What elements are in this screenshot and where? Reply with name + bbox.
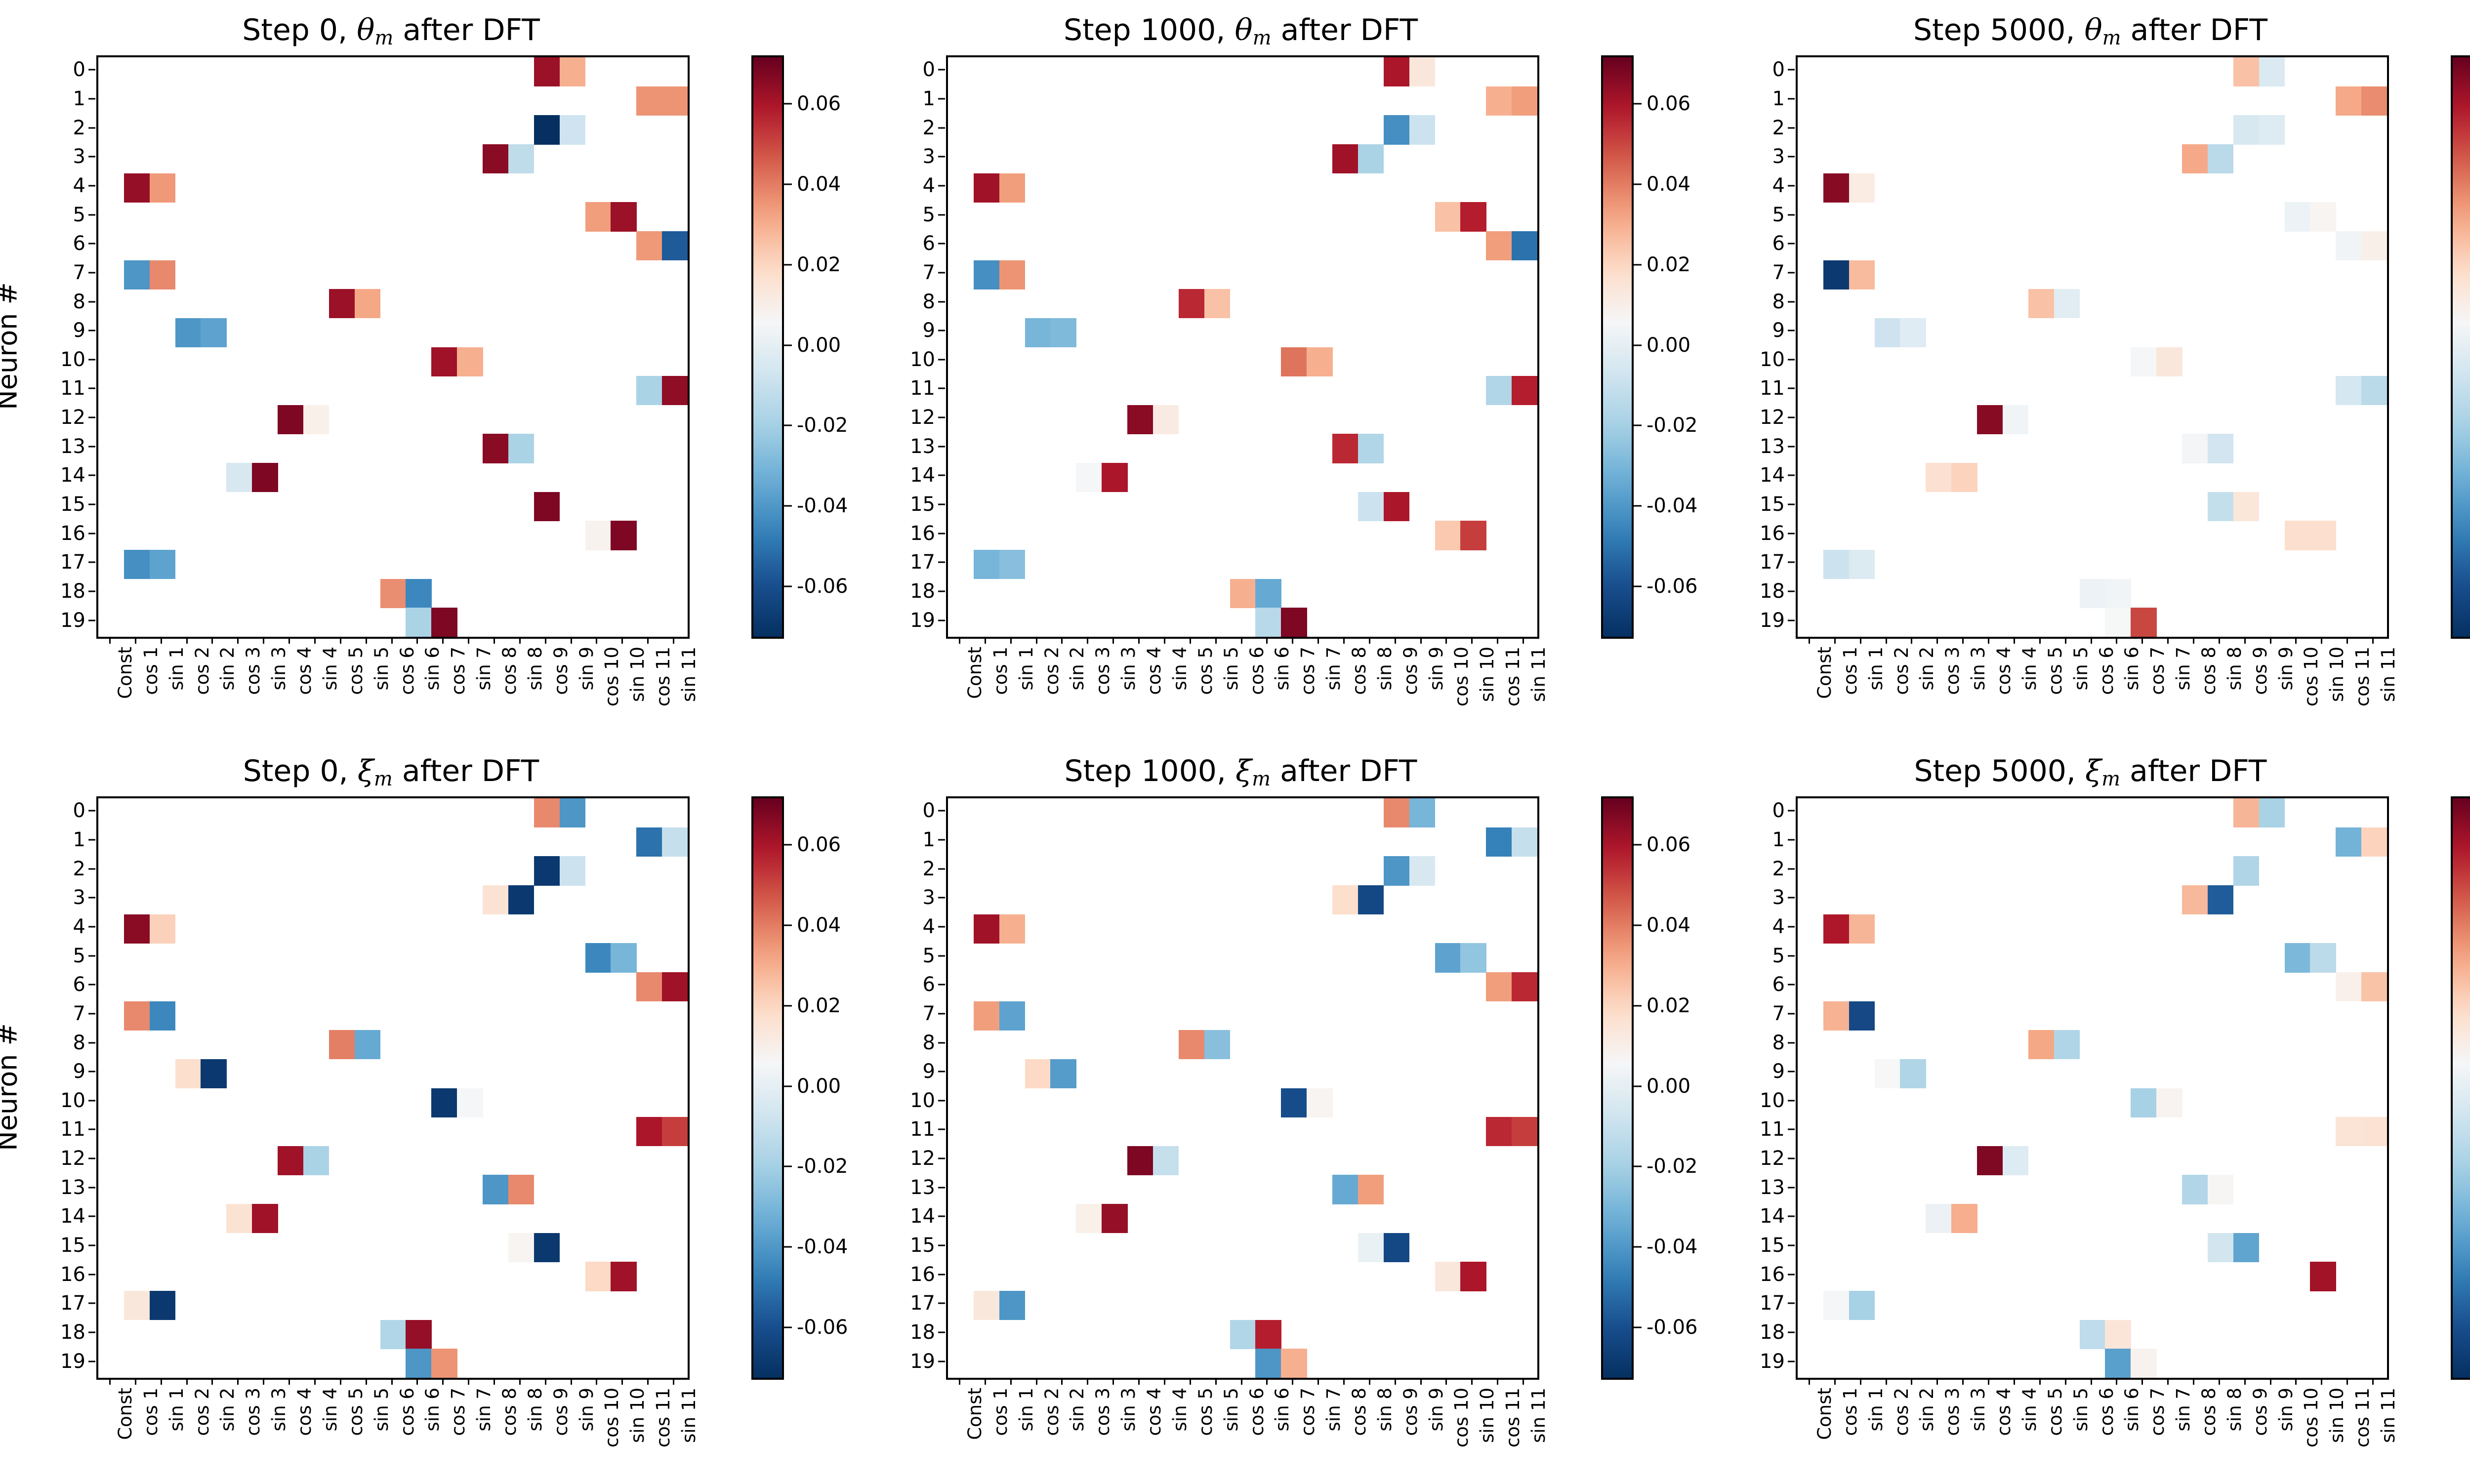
heatmap-cell: [1332, 144, 1358, 173]
heatmap-cell: [252, 463, 278, 492]
heatmap-cell: [1823, 173, 1849, 203]
y-tick-mark: [1788, 897, 1795, 899]
colorbar-tick-label: -0.04: [1647, 496, 1698, 516]
y-tick-mark: [938, 214, 945, 215]
y-tick-mark: [938, 243, 945, 245]
x-tick-label: sin 1: [167, 1388, 186, 1431]
y-tick-mark: [1788, 926, 1795, 927]
x-tick-mark: [2167, 637, 2169, 644]
x-tick-label: cos 5: [347, 1388, 365, 1436]
colorbar-tick-label: -0.04: [1647, 1237, 1698, 1257]
heatmap-cell: [1849, 173, 1875, 203]
y-tick-mark: [938, 1042, 945, 1043]
y-tick-mark: [938, 475, 945, 476]
x-tick-label: sin 10: [628, 647, 647, 702]
heatmap-cell: [611, 1262, 636, 1291]
heatmap-cell: [999, 173, 1025, 203]
x-tick-label: sin 10: [1478, 1388, 1496, 1443]
y-tick-label: 11: [32, 378, 85, 398]
x-tick-label: cos 5: [1196, 647, 1215, 695]
colorbar-tick-mark: [1634, 1085, 1642, 1087]
y-tick-label: 15: [1731, 495, 1785, 514]
heatmap-cell: [1332, 434, 1358, 463]
heatmap-axes[interactable]: [1796, 796, 2389, 1380]
colorbar-tick-mark: [784, 586, 792, 587]
x-tick-mark: [211, 637, 213, 644]
heatmap-cell: [1512, 376, 1537, 405]
colorbar-tick-label: -0.06: [1647, 577, 1698, 596]
y-tick-mark: [938, 69, 945, 71]
x-tick-mark: [1010, 1378, 1012, 1385]
x-tick-mark: [2039, 637, 2041, 644]
colorbar-tick-mark: [1634, 1005, 1642, 1006]
y-tick-label: 11: [1731, 1119, 1785, 1139]
colorbar-tick-label: -0.04: [797, 1237, 848, 1257]
heatmap-cell: [1204, 289, 1230, 318]
heatmap-cell: [1849, 1291, 1875, 1320]
x-tick-label: sin 8: [1376, 1388, 1394, 1431]
colorbar-tick-label: 0.02: [1647, 996, 1690, 1016]
x-tick-label: cos 10: [2302, 1388, 2320, 1447]
x-tick-label: cos 9: [2251, 647, 2269, 695]
y-tick-mark: [88, 955, 95, 956]
x-tick-label: cos 10: [603, 647, 621, 706]
x-tick-mark: [340, 1378, 341, 1385]
x-tick-mark: [519, 637, 521, 644]
x-tick-label: cos 2: [1043, 647, 1061, 695]
x-tick-mark: [391, 637, 393, 644]
heatmap-cell: [1332, 885, 1358, 914]
y-tick-mark: [938, 446, 945, 447]
y-tick-label: 8: [1731, 292, 1785, 312]
x-tick-mark: [2167, 1378, 2169, 1385]
heatmap-cell: [1153, 405, 1179, 434]
x-tick-mark: [1061, 637, 1063, 644]
heatmap-cell: [329, 289, 355, 318]
heatmap-cell: [406, 1320, 431, 1349]
heatmap-cell: [1849, 550, 1875, 579]
x-tick-mark: [1395, 637, 1396, 644]
y-tick-mark: [938, 1245, 945, 1246]
y-tick-mark: [938, 926, 945, 927]
x-tick-mark: [2219, 637, 2220, 644]
heatmap-cell: [150, 1001, 175, 1031]
x-tick-label: sin 6: [1273, 647, 1291, 690]
heatmap-cell: [2182, 434, 2208, 463]
y-tick-label: 19: [882, 611, 935, 630]
x-tick-mark: [1988, 1378, 1989, 1385]
heatmap-cell: [1512, 1117, 1537, 1146]
x-tick-mark: [1266, 1378, 1268, 1385]
y-tick-label: 14: [882, 465, 935, 485]
heatmap-cell: [1281, 347, 1307, 376]
y-tick-label: 5: [882, 946, 935, 966]
y-tick-label: 6: [882, 234, 935, 253]
colorbar-tick-mark: [784, 344, 792, 346]
y-tick-label: 16: [1731, 1265, 1785, 1284]
x-tick-label: sin 10: [2328, 647, 2346, 702]
heatmap-cell: [662, 972, 688, 1001]
x-tick-label: sin 5: [372, 647, 391, 690]
x-tick-mark: [959, 637, 960, 644]
heatmap-cell: [1849, 260, 1875, 289]
y-tick-mark: [1788, 214, 1795, 215]
heatmap-cell: [2208, 492, 2233, 521]
heatmap-cell: [585, 1262, 611, 1291]
y-tick-mark: [88, 1100, 95, 1101]
x-tick-mark: [314, 1378, 316, 1385]
y-tick-mark: [88, 1274, 95, 1275]
colorbar-tick-mark: [784, 183, 792, 185]
y-tick-mark: [88, 839, 95, 840]
y-tick-label: 17: [1731, 552, 1785, 572]
x-tick-label: sin 6: [2123, 1388, 2141, 1431]
x-tick-mark: [1266, 637, 1268, 644]
heatmap-cell: [124, 173, 150, 203]
y-tick-label: 18: [882, 1322, 935, 1342]
x-tick-mark: [1860, 637, 1861, 644]
x-tick-label: cos 4: [1145, 1388, 1163, 1436]
heatmap-cell: [1179, 289, 1204, 318]
heatmap-cell: [1460, 1262, 1486, 1291]
x-tick-label: sin 1: [1017, 1388, 1035, 1431]
y-tick-mark: [938, 1274, 945, 1275]
heatmap-cell: [1486, 231, 1512, 260]
title-symbol: ξ: [2085, 754, 2101, 788]
y-tick-mark: [938, 1100, 945, 1101]
x-tick-label: cos 4: [1995, 1388, 2013, 1436]
y-tick-label: 3: [32, 888, 85, 907]
x-tick-mark: [1471, 1378, 1473, 1385]
y-tick-label: 1: [882, 89, 935, 109]
heatmap-cell: [1230, 579, 1256, 608]
y-tick-label: 12: [32, 408, 85, 427]
y-tick-label: 10: [1731, 350, 1785, 370]
x-tick-label: cos 10: [2302, 647, 2320, 706]
x-tick-label: sin 2: [1918, 647, 1936, 690]
heatmap-axes[interactable]: [96, 796, 690, 1380]
x-tick-label: cos 2: [1043, 1388, 1061, 1436]
x-tick-label: sin 9: [2277, 1388, 2295, 1431]
heatmap-cell: [124, 1001, 150, 1031]
x-tick-label: cos 3: [1943, 647, 1962, 695]
panel-title: Step 1000, θm after DFT: [926, 13, 1555, 49]
heatmap-cell: [999, 260, 1025, 289]
y-tick-label: 17: [1731, 1293, 1785, 1313]
heatmap-cell: [2182, 885, 2208, 914]
heatmap-axes[interactable]: [946, 796, 1539, 1380]
heatmap-cell: [2028, 289, 2054, 318]
x-tick-mark: [1010, 637, 1012, 644]
y-tick-mark: [88, 533, 95, 534]
x-tick-mark: [1497, 637, 1498, 644]
x-tick-mark: [1369, 1378, 1370, 1385]
heatmap-cell: [636, 231, 662, 260]
heatmap-axes[interactable]: [1796, 55, 2389, 639]
heatmap-cell: [1486, 972, 1512, 1001]
x-tick-label: sin 10: [2328, 1388, 2346, 1443]
y-tick-mark: [1788, 1245, 1795, 1246]
y-tick-label: 6: [32, 234, 85, 253]
y-tick-mark: [938, 388, 945, 389]
x-tick-mark: [673, 1378, 674, 1385]
heatmap-cell: [999, 1291, 1025, 1320]
y-tick-mark: [88, 984, 95, 986]
x-tick-mark: [416, 1378, 418, 1385]
heatmap-cell: [1384, 798, 1409, 827]
x-tick-mark: [109, 637, 111, 644]
heatmap-cell: [508, 885, 534, 914]
heatmap-cell: [1050, 1059, 1076, 1088]
heatmap-cell: [2361, 231, 2387, 260]
y-tick-label: 7: [32, 263, 85, 283]
colorbar-tick-label: 0.00: [797, 335, 841, 355]
x-tick-mark: [2346, 637, 2348, 644]
x-tick-label: cos 5: [2046, 647, 2064, 695]
colorbar-tick-mark: [784, 505, 792, 507]
heatmap-cell: [2105, 579, 2131, 608]
heatmap-cell: [1384, 57, 1409, 86]
colorbar-tick-mark: [1634, 103, 1642, 104]
heatmap-cell: [150, 260, 175, 289]
heatmap-cell: [2131, 1349, 2156, 1378]
heatmap-cell: [1977, 405, 2003, 434]
heatmap-cell: [2336, 827, 2361, 857]
y-tick-label: 5: [1731, 946, 1785, 966]
x-tick-label: sin 7: [1324, 647, 1343, 690]
heatmap-cell: [611, 202, 636, 231]
x-tick-mark: [1215, 1378, 1217, 1385]
y-tick-mark: [1788, 417, 1795, 418]
y-tick-mark: [88, 1042, 95, 1043]
x-tick-mark: [571, 637, 572, 644]
y-tick-mark: [938, 955, 945, 956]
y-tick-label: 14: [1731, 1206, 1785, 1226]
y-tick-label: 16: [882, 524, 935, 543]
y-tick-label: 10: [32, 1091, 85, 1111]
heatmap-axes[interactable]: [946, 55, 1539, 639]
x-tick-label: cos 4: [295, 1388, 314, 1436]
heatmap-cell: [150, 914, 175, 944]
y-axis-label: Neuron #: [0, 1013, 23, 1161]
heatmap-cell: [278, 1146, 303, 1175]
y-tick-label: 15: [882, 1236, 935, 1255]
x-tick-mark: [1445, 1378, 1447, 1385]
heatmap-cell: [329, 1030, 355, 1059]
x-tick-label: sin 4: [321, 1388, 339, 1431]
x-tick-mark: [2014, 1378, 2015, 1385]
x-tick-mark: [1523, 1378, 1524, 1385]
y-tick-label: 9: [882, 321, 935, 340]
y-tick-mark: [938, 1303, 945, 1304]
x-tick-mark: [2193, 1378, 2194, 1385]
heatmap-cell: [124, 260, 150, 289]
title-subscript: m: [374, 27, 393, 49]
heatmap-axes[interactable]: [96, 55, 690, 639]
x-tick-label: sin 4: [2020, 647, 2039, 690]
x-tick-label: cos 6: [2098, 1388, 2116, 1436]
x-tick-label: cos 7: [449, 1388, 467, 1436]
y-tick-label: 16: [882, 1265, 935, 1284]
heatmap-cell: [1435, 202, 1461, 231]
y-tick-label: 11: [882, 1119, 935, 1139]
x-tick-label: cos 3: [1943, 1388, 1962, 1436]
y-tick-mark: [88, 1216, 95, 1217]
x-tick-mark: [1164, 1378, 1165, 1385]
y-tick-label: 10: [882, 1091, 935, 1111]
heatmap-cell: [1358, 1175, 1384, 1204]
heatmap-cell: [1204, 1030, 1230, 1059]
x-tick-label: cos 6: [398, 647, 416, 695]
y-tick-mark: [88, 272, 95, 273]
y-tick-mark: [938, 417, 945, 418]
heatmap-cell: [1951, 463, 1977, 492]
x-tick-mark: [1343, 1378, 1345, 1385]
heatmap-cell: [1409, 856, 1435, 885]
heatmap-cell: [1255, 579, 1281, 608]
y-tick-mark: [938, 301, 945, 302]
x-tick-label: sin 8: [2225, 1388, 2244, 1431]
y-tick-label: 19: [32, 1352, 85, 1371]
x-tick-mark: [314, 637, 316, 644]
y-tick-mark: [938, 1187, 945, 1188]
heatmap-cell: [1127, 1146, 1153, 1175]
x-tick-label: cos 7: [2148, 647, 2167, 695]
y-tick-label: 13: [1731, 437, 1785, 456]
colorbar-tick-label: -0.02: [797, 415, 848, 435]
y-tick-label: 4: [882, 917, 935, 937]
x-tick-mark: [519, 1378, 521, 1385]
heatmap-cell: [175, 318, 201, 347]
heatmap-cell: [662, 231, 688, 260]
y-tick-label: 13: [1731, 1178, 1785, 1197]
x-tick-mark: [1190, 1378, 1191, 1385]
x-tick-mark: [1471, 637, 1473, 644]
y-tick-label: 7: [1731, 1004, 1785, 1024]
y-tick-mark: [88, 388, 95, 389]
heatmap-cell: [1384, 856, 1409, 885]
x-tick-mark: [1061, 1378, 1063, 1385]
heatmap-cell: [560, 57, 585, 86]
x-tick-mark: [2141, 1378, 2143, 1385]
heatmap-cell: [380, 1320, 406, 1349]
y-tick-mark: [1788, 98, 1795, 99]
x-tick-mark: [673, 637, 674, 644]
x-tick-mark: [1809, 637, 1810, 644]
x-tick-label: cos 1: [991, 647, 1010, 695]
y-tick-label: 6: [1731, 234, 1785, 253]
y-tick-mark: [88, 301, 95, 302]
heatmap-cell: [560, 115, 585, 144]
x-tick-mark: [2116, 637, 2117, 644]
heatmap-cell: [636, 827, 662, 857]
y-tick-mark: [88, 1158, 95, 1159]
heatmap-cell: [1307, 347, 1332, 376]
colorbar-tick-mark: [1634, 183, 1642, 185]
x-tick-label: Const: [116, 1388, 134, 1440]
y-tick-label: 0: [882, 60, 935, 80]
x-tick-mark: [2244, 637, 2246, 644]
x-tick-label: cos 5: [2046, 1388, 2064, 1436]
y-tick-mark: [1788, 185, 1795, 186]
x-tick-mark: [2270, 1378, 2271, 1385]
heatmap-cell: [1460, 202, 1486, 231]
y-tick-mark: [1788, 127, 1795, 128]
y-tick-label: 1: [32, 89, 85, 109]
x-tick-mark: [1860, 1378, 1861, 1385]
x-tick-mark: [1962, 637, 1964, 644]
heatmap-cell: [175, 1059, 201, 1088]
heatmap-cell: [1358, 144, 1384, 173]
heatmap-cell: [2054, 1030, 2080, 1059]
title-symbol: θ: [2085, 13, 2102, 47]
x-tick-mark: [1343, 637, 1345, 644]
heatmap-cell: [2208, 144, 2233, 173]
y-tick-mark: [88, 897, 95, 899]
x-tick-mark: [621, 1378, 623, 1385]
heatmap-cell: [1281, 608, 1307, 637]
heatmap-cell: [1435, 521, 1461, 550]
y-tick-mark: [938, 98, 945, 99]
x-tick-label: sin 1: [1867, 647, 1885, 690]
x-tick-mark: [2295, 637, 2297, 644]
y-tick-label: 2: [32, 859, 85, 879]
y-tick-mark: [1788, 619, 1795, 621]
y-tick-mark: [1788, 1071, 1795, 1072]
heatmap-cell: [355, 289, 380, 318]
y-tick-label: 9: [32, 1062, 85, 1081]
x-tick-label: cos 1: [1841, 647, 1859, 695]
heatmap-cell: [974, 1001, 999, 1031]
x-tick-label: sin 3: [1969, 1388, 1987, 1431]
heatmap-cell: [1307, 1088, 1332, 1117]
x-tick-mark: [2295, 1378, 2297, 1385]
heatmap-cell: [1102, 463, 1127, 492]
colorbar-tick-label: -0.06: [1647, 1318, 1698, 1337]
heatmap-cell: [2233, 856, 2259, 885]
heatmap-cell: [2131, 608, 2156, 637]
x-tick-label: cos 1: [991, 1388, 1010, 1436]
title-subscript: m: [1253, 27, 1272, 49]
x-tick-mark: [237, 1378, 239, 1385]
x-tick-mark: [1936, 1378, 1938, 1385]
x-tick-label: Const: [966, 1388, 984, 1440]
x-tick-label: Const: [1815, 1388, 1834, 1440]
x-tick-mark: [416, 637, 418, 644]
y-tick-label: 2: [32, 118, 85, 138]
heatmap-cell: [1823, 1291, 1849, 1320]
y-tick-label: 17: [32, 552, 85, 572]
x-tick-mark: [1497, 1378, 1498, 1385]
x-tick-label: sin 9: [1427, 647, 1445, 690]
y-tick-label: 0: [882, 801, 935, 821]
y-tick-mark: [1788, 1100, 1795, 1101]
colorbar-tick-mark: [784, 1085, 792, 1087]
y-tick-label: 11: [882, 378, 935, 398]
y-tick-mark: [938, 562, 945, 563]
y-tick-mark: [1788, 69, 1795, 71]
y-tick-label: 13: [32, 437, 85, 456]
y-tick-label: 0: [32, 801, 85, 821]
x-tick-label: cos 2: [1893, 647, 1911, 695]
colorbar-tick-mark: [784, 1005, 792, 1006]
x-tick-label: cos 9: [1401, 647, 1420, 695]
heatmap-cell: [150, 173, 175, 203]
heatmap-cell: [2233, 57, 2259, 86]
heatmap-cell: [534, 115, 560, 144]
y-tick-label: 4: [882, 176, 935, 196]
x-tick-label: sin 3: [1969, 647, 1987, 690]
